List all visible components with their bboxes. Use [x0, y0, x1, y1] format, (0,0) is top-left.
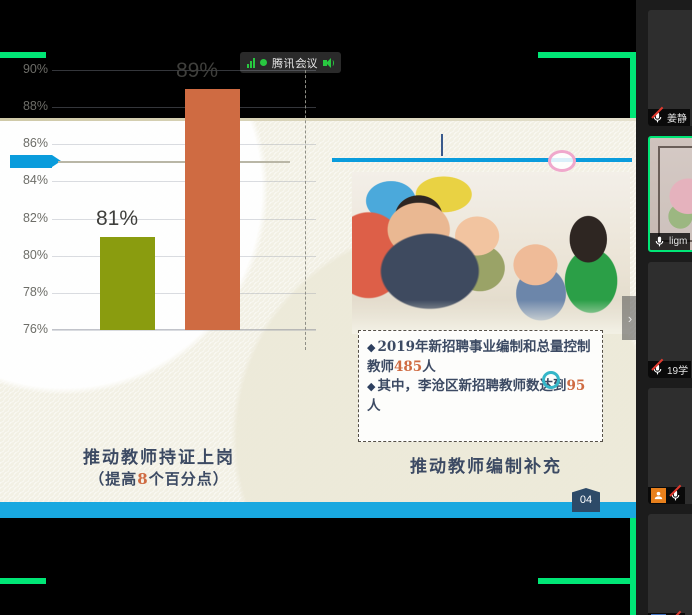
slide-bottom-band	[0, 502, 636, 518]
note-text-post: 人	[367, 398, 381, 414]
mic-muted-icon[interactable]	[651, 111, 664, 124]
panel-divider	[305, 60, 306, 350]
participant-video	[658, 146, 692, 242]
bullet-icon: ◆	[367, 380, 375, 393]
mic-muted-icon[interactable]	[651, 363, 664, 376]
share-border-top-right	[538, 52, 636, 58]
chart-bar-value-label: 89%	[176, 59, 218, 83]
chart-y-tick: 82%	[4, 211, 48, 225]
chart-bar-value-label: 81%	[96, 207, 138, 231]
share-border-bottom-left	[0, 578, 46, 584]
note-number: 95	[566, 378, 585, 394]
screen-share-view: 腾讯会议 04 90%88%86%84%82%80%78%76%81%89% 推…	[0, 0, 692, 615]
chart-gridline	[52, 107, 316, 108]
share-border-top-left	[0, 52, 46, 58]
chart-gridline	[52, 256, 316, 257]
note-line: ◆其中，李沧区新招聘教师数达到95人	[367, 377, 594, 416]
speaker-icon[interactable]	[323, 58, 334, 68]
note-box: ◆2019年新招聘事业编制和总量控制教师485人 ◆其中，李沧区新招聘教师数达到…	[358, 330, 603, 442]
right-caption: 推动教师编制补充	[336, 452, 636, 477]
left-caption: 推动教师持证上岗	[0, 443, 318, 468]
participant-sidebar[interactable]: 姜静ligm19学	[636, 0, 692, 615]
participant-name: 姜静	[667, 110, 687, 125]
participant-name-bar: 19学	[648, 361, 691, 378]
chart-y-tick: 88%	[4, 99, 48, 113]
left-subcaption-post: 个百分点）	[149, 470, 229, 488]
participant-tile[interactable]	[648, 514, 692, 615]
chart-gridline	[52, 330, 316, 331]
left-subcaption: （提高8个百分点）	[0, 468, 318, 489]
deco-tick-mark	[441, 134, 443, 156]
chart-y-tick: 80%	[4, 248, 48, 262]
share-border-bottom-right	[538, 578, 636, 584]
chart-bar	[100, 237, 155, 330]
mic-muted-icon[interactable]	[669, 489, 682, 502]
chart-y-tick: 76%	[4, 322, 48, 336]
participant-name-bar	[648, 487, 685, 504]
chart-y-tick: 90%	[4, 62, 48, 76]
participant-tile[interactable]	[648, 388, 692, 504]
chart-y-tick: 78%	[4, 285, 48, 299]
slide-page-badge: 04	[572, 488, 600, 512]
bullet-icon: ◆	[367, 341, 375, 354]
chart-y-tick: 86%	[4, 136, 48, 150]
left-subcaption-highlight: 8	[137, 470, 148, 488]
participant-name: 19学	[667, 362, 688, 377]
mic-icon[interactable]	[653, 235, 666, 248]
chart-gridline	[52, 181, 316, 182]
left-subcaption-pre: （提高	[89, 470, 137, 488]
chart-y-tick: 84%	[4, 173, 48, 187]
avatar	[651, 488, 666, 503]
note-line: ◆2019年新招聘事业编制和总量控制教师485人	[367, 338, 594, 377]
participant-tile[interactable]: ligm	[648, 136, 692, 252]
participant-name: ligm	[669, 236, 687, 247]
chart-gridline	[52, 144, 316, 145]
participant-tile[interactable]: 19学	[648, 262, 692, 378]
chart-gridline	[52, 219, 316, 220]
bar-chart: 90%88%86%84%82%80%78%76%81%89%	[0, 62, 318, 362]
note-text-pre: 其中，李沧区新招聘教师数达到	[377, 378, 566, 394]
note-number: 485	[394, 359, 422, 375]
participant-name-bar: ligm	[650, 233, 690, 250]
chart-gridline	[52, 293, 316, 294]
decorative-ring-icon	[542, 371, 560, 389]
note-text-post: 人	[422, 359, 436, 375]
decorative-ribbon-icon	[548, 150, 576, 172]
participant-name-bar: 姜静	[648, 109, 690, 126]
deco-right-line	[332, 158, 632, 162]
photo-fade-overlay	[352, 300, 630, 334]
participant-tile[interactable]: 姜静	[648, 10, 692, 126]
chart-bar	[185, 89, 240, 330]
